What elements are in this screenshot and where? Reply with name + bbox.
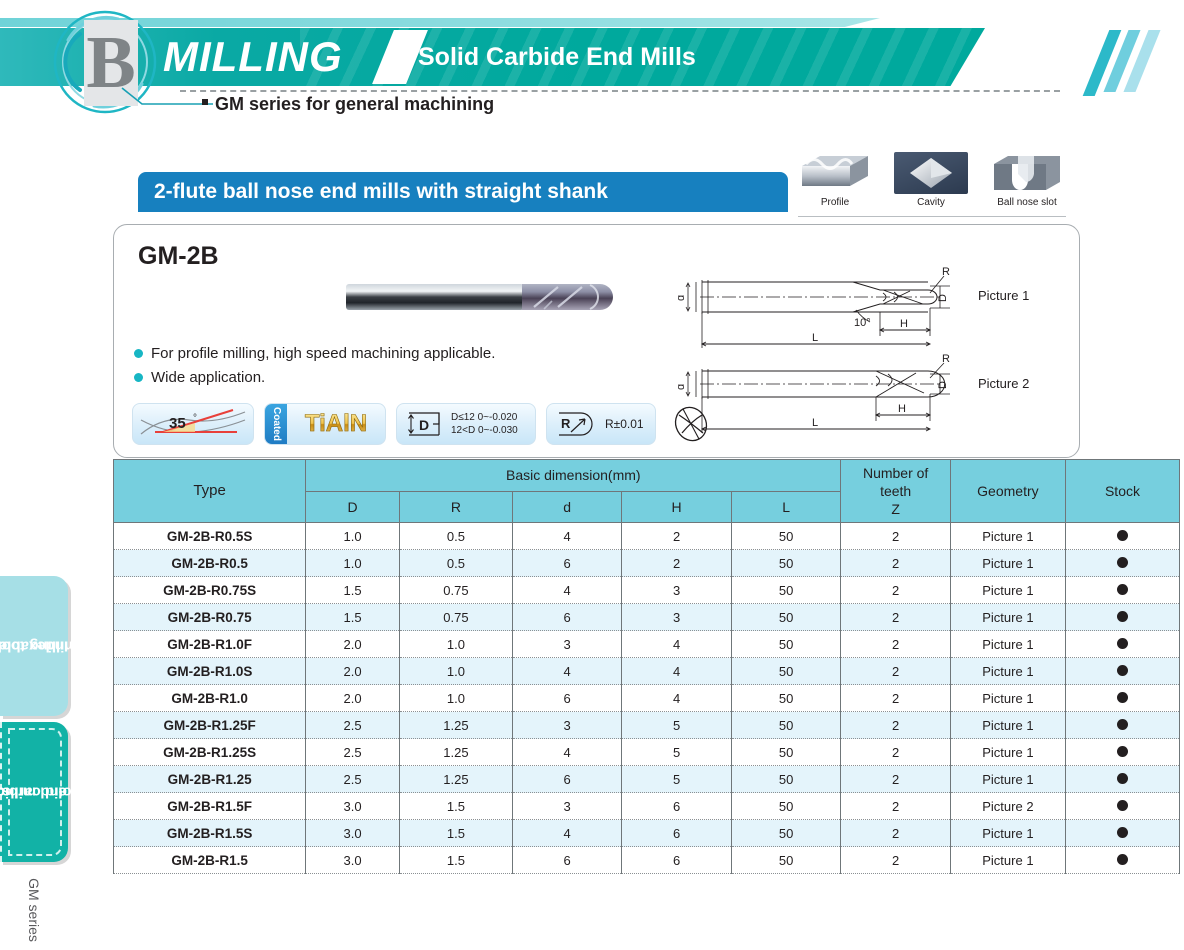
table-header-row-1: Type Basic dimension(mm) Number of teeth…	[114, 460, 1180, 492]
cell-D: 2.5	[306, 766, 400, 793]
cell-L: 50	[731, 793, 841, 820]
cell-H: 6	[622, 793, 731, 820]
cell-H: 2	[622, 550, 731, 577]
table-row[interactable]: GM-2B-R1.0F2.01.034502Picture 1	[114, 631, 1180, 658]
th-dim-d: d	[512, 491, 621, 523]
drawing1-dim-d: d	[678, 295, 687, 301]
table-row[interactable]: GM-2B-R0.751.50.7563502Picture 1	[114, 604, 1180, 631]
spec-badges: 35 ° Coated TiAlN D D≤12 0~-0.020 12<D 0…	[132, 403, 718, 445]
svg-text:D: D	[419, 417, 429, 433]
cell-geometry: Picture 1	[950, 577, 1065, 604]
coated-label: Coated	[270, 407, 282, 441]
cell-stock	[1065, 577, 1179, 604]
product-photo	[344, 277, 644, 317]
thumbnail-cavity: Cavity	[894, 152, 968, 214]
cell-geometry: Picture 1	[950, 604, 1065, 631]
cell-d: 6	[512, 604, 621, 631]
cell-R: 1.5	[400, 820, 513, 847]
cell-L: 50	[731, 712, 841, 739]
profile-shape-icon	[798, 152, 872, 194]
bullet-dot-icon	[134, 349, 143, 358]
cell-type: GM-2B-R1.5F	[114, 793, 306, 820]
cell-type: GM-2B-R1.25S	[114, 739, 306, 766]
cell-L: 50	[731, 604, 841, 631]
cell-d: 3	[512, 631, 621, 658]
cell-L: 50	[731, 658, 841, 685]
drawing2-dim-d: d	[678, 384, 687, 390]
stock-available-dot-icon	[1117, 692, 1128, 703]
cell-R: 1.5	[400, 847, 513, 874]
cell-H: 5	[622, 712, 731, 739]
badge-helix-angle: 35 °	[132, 403, 254, 445]
cell-Z: 2	[841, 712, 950, 739]
thumbnail-ball-nose-slot: Ball nose slot	[990, 152, 1064, 214]
technical-drawings: d D R 10° H L d D R H L Picture 1 Pictur…	[678, 266, 1078, 446]
cell-stock	[1065, 847, 1179, 874]
cell-D: 2.0	[306, 658, 400, 685]
cell-stock	[1065, 712, 1179, 739]
cell-R: 0.75	[400, 604, 513, 631]
cell-L: 50	[731, 847, 841, 874]
cell-R: 1.0	[400, 631, 513, 658]
cell-type: GM-2B-R0.75S	[114, 577, 306, 604]
cell-Z: 2	[841, 793, 950, 820]
stock-available-dot-icon	[1117, 827, 1128, 838]
cell-D: 3.0	[306, 847, 400, 874]
cell-D: 1.5	[306, 604, 400, 631]
cell-Z: 2	[841, 631, 950, 658]
cell-geometry: Picture 1	[950, 847, 1065, 874]
cell-geometry: Picture 1	[950, 685, 1065, 712]
cell-D: 2.0	[306, 685, 400, 712]
cell-Z: 2	[841, 658, 950, 685]
table-row[interactable]: GM-2B-R0.5S1.00.542502Picture 1	[114, 523, 1180, 550]
table-row[interactable]: GM-2B-R1.5F3.01.536502Picture 2	[114, 793, 1180, 820]
cell-type: GM-2B-R1.5S	[114, 820, 306, 847]
cell-d: 6	[512, 766, 621, 793]
stock-available-dot-icon	[1117, 530, 1128, 541]
cavity-shape-icon	[894, 152, 968, 194]
cell-R: 1.25	[400, 766, 513, 793]
stock-available-dot-icon	[1117, 665, 1128, 676]
cell-stock	[1065, 739, 1179, 766]
cell-L: 50	[731, 550, 841, 577]
sidebar-tab-solid-line2: end mills	[2, 783, 67, 802]
stock-available-dot-icon	[1117, 854, 1128, 865]
cell-type: GM-2B-R1.25F	[114, 712, 306, 739]
cell-D: 1.0	[306, 523, 400, 550]
cell-R: 0.5	[400, 550, 513, 577]
cell-type: GM-2B-R1.25	[114, 766, 306, 793]
cell-d: 4	[512, 577, 621, 604]
cell-geometry: Picture 1	[950, 820, 1065, 847]
cell-D: 1.0	[306, 550, 400, 577]
cell-d: 3	[512, 793, 621, 820]
th-dim-R: R	[400, 491, 513, 523]
sidebar-tabs: Indexablemilling tools Solid carbideend …	[0, 570, 110, 892]
sidebar-tab-indexable-line2: milling tools	[0, 637, 78, 656]
cell-geometry: Picture 1	[950, 523, 1065, 550]
cell-R: 1.25	[400, 712, 513, 739]
table-row[interactable]: GM-2B-R1.02.01.064502Picture 1	[114, 685, 1180, 712]
cell-H: 4	[622, 658, 731, 685]
cell-d: 4	[512, 739, 621, 766]
drawing2-dim-L: L	[812, 417, 818, 429]
cell-type: GM-2B-R0.75	[114, 604, 306, 631]
cell-stock	[1065, 766, 1179, 793]
sidebar-series-label: GM series	[25, 878, 43, 942]
cell-d: 4	[512, 658, 621, 685]
svg-text:°: °	[193, 413, 197, 424]
cell-L: 50	[731, 685, 841, 712]
feature-text: For profile milling, high speed machinin…	[151, 343, 495, 364]
drawing2-dim-R: R	[942, 353, 950, 365]
cell-Z: 2	[841, 685, 950, 712]
cell-Z: 2	[841, 577, 950, 604]
drawing2-dim-D: D	[937, 381, 949, 389]
feature-item: For profile milling, high speed machinin…	[134, 343, 495, 364]
cell-H: 2	[622, 523, 731, 550]
drawing1-dim-H: H	[900, 318, 908, 330]
bullet-dot-icon	[134, 373, 143, 382]
th-dim-D: D	[306, 491, 400, 523]
cell-L: 50	[731, 577, 841, 604]
sidebar-tab-indexable-milling-tools[interactable]: Indexablemilling tools	[0, 576, 68, 716]
cell-geometry: Picture 1	[950, 658, 1065, 685]
stock-available-dot-icon	[1117, 800, 1128, 811]
thumbnail-profile: Profile	[798, 152, 872, 214]
cell-Z: 2	[841, 820, 950, 847]
cell-geometry: Picture 1	[950, 739, 1065, 766]
series-leader-dot	[202, 99, 208, 105]
tolerance-line-2: 12<D 0~-0.030	[451, 424, 518, 437]
cell-stock	[1065, 631, 1179, 658]
cell-geometry: Picture 1	[950, 631, 1065, 658]
th-geometry: Geometry	[950, 460, 1065, 523]
cell-geometry: Picture 1	[950, 550, 1065, 577]
drawing2-dim-H: H	[898, 403, 906, 415]
ball-nose-slot-icon	[990, 152, 1064, 194]
cell-R: 0.5	[400, 523, 513, 550]
thumbnail-slot-caption: Ball nose slot	[990, 196, 1064, 209]
cell-L: 50	[731, 820, 841, 847]
header-subtitle: Solid Carbide End Mills	[418, 40, 696, 74]
cell-H: 5	[622, 739, 731, 766]
cell-geometry: Picture 2	[950, 793, 1065, 820]
cell-Z: 2	[841, 523, 950, 550]
cell-R: 1.25	[400, 739, 513, 766]
stock-available-dot-icon	[1117, 719, 1128, 730]
stock-available-dot-icon	[1117, 773, 1128, 784]
application-thumbnails: Profile Cavity Ball nose slot	[798, 152, 1066, 214]
series-title: GM series for general machining	[215, 92, 494, 116]
thumbnail-rule	[798, 216, 1066, 217]
svg-text:R: R	[561, 416, 571, 431]
badge-coating: Coated TiAlN	[264, 403, 386, 445]
th-teeth-line3: Z	[891, 501, 900, 517]
cell-Z: 2	[841, 604, 950, 631]
series-leader-line	[120, 86, 215, 108]
drawing1-dim-D: D	[937, 294, 949, 302]
cell-d: 6	[512, 550, 621, 577]
cell-stock	[1065, 820, 1179, 847]
cell-type: GM-2B-R1.0S	[114, 658, 306, 685]
cell-D: 2.5	[306, 739, 400, 766]
cell-D: 3.0	[306, 793, 400, 820]
specification-table: Type Basic dimension(mm) Number of teeth…	[113, 459, 1180, 874]
cell-d: 6	[512, 847, 621, 874]
table-row[interactable]: GM-2B-R1.252.51.2565502Picture 1	[114, 766, 1180, 793]
cell-H: 4	[622, 685, 731, 712]
th-teeth-line2: teeth	[880, 483, 911, 499]
table-row[interactable]: GM-2B-R1.25F2.51.2535502Picture 1	[114, 712, 1180, 739]
sidebar-series-label-wrap: GM series	[0, 870, 68, 950]
thumbnail-cavity-caption: Cavity	[894, 196, 968, 209]
cell-stock	[1065, 658, 1179, 685]
drawing-label-1: Picture 1	[978, 288, 1029, 303]
table-row[interactable]: GM-2B-R1.53.01.566502Picture 1	[114, 847, 1180, 874]
thumbnail-profile-caption: Profile	[798, 196, 872, 209]
cell-H: 3	[622, 604, 731, 631]
table-row[interactable]: GM-2B-R0.51.00.562502Picture 1	[114, 550, 1180, 577]
cell-H: 4	[622, 631, 731, 658]
diameter-symbol-icon: D	[403, 411, 445, 437]
product-code: GM-2B	[138, 241, 219, 271]
cell-H: 5	[622, 766, 731, 793]
cell-type: GM-2B-R0.5S	[114, 523, 306, 550]
cell-L: 50	[731, 739, 841, 766]
drawing1-angle: 10°	[854, 317, 871, 329]
header-category-label: MILLING	[163, 33, 343, 81]
stock-available-dot-icon	[1117, 611, 1128, 622]
svg-text:35: 35	[169, 415, 186, 432]
drawing1-dim-L: L	[812, 332, 818, 344]
stock-available-dot-icon	[1117, 557, 1128, 568]
cell-geometry: Picture 1	[950, 766, 1065, 793]
coated-strip: Coated	[265, 404, 287, 444]
cell-L: 50	[731, 523, 841, 550]
drawing-label-2: Picture 2	[978, 376, 1029, 391]
section-title-bar: 2-flute ball nose end mills with straigh…	[138, 172, 788, 212]
cell-stock	[1065, 685, 1179, 712]
cell-d: 4	[512, 523, 621, 550]
cell-stock	[1065, 793, 1179, 820]
radius-symbol-icon: R	[555, 410, 599, 438]
cell-D: 3.0	[306, 820, 400, 847]
table-row[interactable]: GM-2B-R1.25S2.51.2545502Picture 1	[114, 739, 1180, 766]
cell-type: GM-2B-R1.0F	[114, 631, 306, 658]
drawing1-dim-R: R	[942, 266, 950, 278]
cell-type: GM-2B-R1.0	[114, 685, 306, 712]
page-header: MILLING Solid Carbide End Mills B GM ser…	[0, 0, 1184, 130]
cell-stock	[1065, 550, 1179, 577]
section-title: 2-flute ball nose end mills with straigh…	[154, 179, 608, 205]
th-basic-dimension: Basic dimension(mm)	[306, 460, 841, 492]
sidebar-tab-solid-carbide-end-mills[interactable]: Solid carbideend mills	[0, 722, 68, 862]
header-chevron-decoration	[1090, 30, 1170, 96]
table-body: GM-2B-R0.5S1.00.542502Picture 1GM-2B-R0.…	[114, 523, 1180, 874]
cell-type: GM-2B-R0.5	[114, 550, 306, 577]
cell-R: 1.0	[400, 685, 513, 712]
badge-radius-tolerance: R R±0.01	[546, 403, 656, 445]
stock-available-dot-icon	[1117, 638, 1128, 649]
radius-tolerance-text: R±0.01	[605, 417, 644, 432]
cell-d: 6	[512, 685, 621, 712]
cell-stock	[1065, 604, 1179, 631]
feature-item: Wide application.	[134, 367, 495, 388]
th-type: Type	[114, 460, 306, 523]
cell-stock	[1065, 523, 1179, 550]
tolerance-line-1: D≤12 0~-0.020	[451, 411, 518, 424]
table-row[interactable]: GM-2B-R1.5S3.01.546502Picture 1	[114, 820, 1180, 847]
table-row[interactable]: GM-2B-R0.75S1.50.7543502Picture 1	[114, 577, 1180, 604]
table-row[interactable]: GM-2B-R1.0S2.01.044502Picture 1	[114, 658, 1180, 685]
cell-R: 1.0	[400, 658, 513, 685]
feature-text: Wide application.	[151, 367, 265, 388]
cell-R: 0.75	[400, 577, 513, 604]
cell-R: 1.5	[400, 793, 513, 820]
stock-available-dot-icon	[1117, 584, 1128, 595]
stock-available-dot-icon	[1117, 746, 1128, 757]
th-dim-L: L	[731, 491, 841, 523]
cell-D: 2.0	[306, 631, 400, 658]
cell-D: 2.5	[306, 712, 400, 739]
cell-d: 4	[512, 820, 621, 847]
th-number-of-teeth: Number of teeth Z	[841, 460, 950, 523]
cell-H: 6	[622, 847, 731, 874]
cell-D: 1.5	[306, 577, 400, 604]
cell-H: 6	[622, 820, 731, 847]
cell-Z: 2	[841, 739, 950, 766]
th-teeth-line1: Number of	[863, 465, 928, 481]
cell-H: 3	[622, 577, 731, 604]
product-features: For profile milling, high speed machinin…	[134, 343, 495, 391]
cell-geometry: Picture 1	[950, 712, 1065, 739]
th-dim-H: H	[622, 491, 731, 523]
cell-L: 50	[731, 766, 841, 793]
cell-d: 3	[512, 712, 621, 739]
badge-diameter-tolerance: D D≤12 0~-0.020 12<D 0~-0.030	[396, 403, 536, 445]
cell-Z: 2	[841, 847, 950, 874]
cell-Z: 2	[841, 766, 950, 793]
th-stock: Stock	[1065, 460, 1179, 523]
cell-type: GM-2B-R1.5	[114, 847, 306, 874]
cell-L: 50	[731, 631, 841, 658]
cell-Z: 2	[841, 550, 950, 577]
coating-name: TiAlN	[287, 410, 385, 438]
